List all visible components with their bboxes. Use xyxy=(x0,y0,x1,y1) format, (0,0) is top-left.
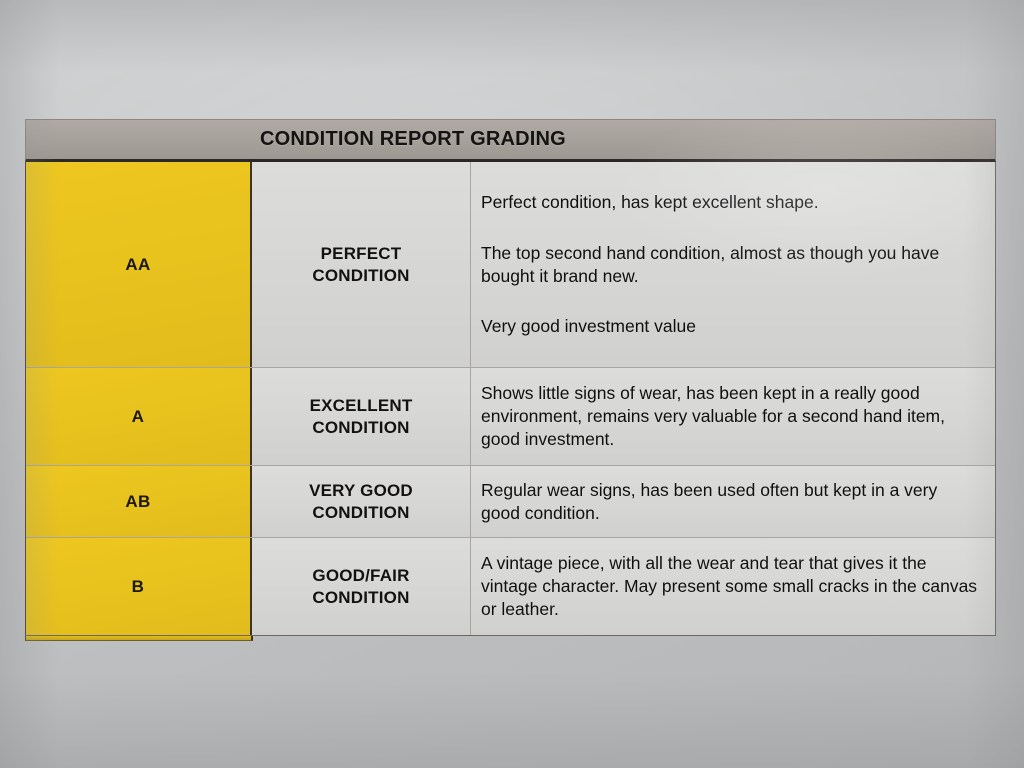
table-row: AB VERY GOOD CONDITION Regular wear sign… xyxy=(26,466,995,538)
description-paragraph: The top second hand condition, almost as… xyxy=(481,242,979,288)
condition-name-cell: EXCELLENT CONDITION xyxy=(252,368,471,465)
grade-column-overhang xyxy=(25,636,253,641)
description-cell: Perfect condition, has kept excellent sh… xyxy=(471,162,995,367)
description-cell: Shows little signs of wear, has been kep… xyxy=(471,368,995,465)
condition-name-line-1: EXCELLENT xyxy=(310,396,413,415)
condition-name-line-1: PERFECT xyxy=(321,244,402,263)
condition-name-line-1: VERY GOOD xyxy=(309,481,413,500)
description-paragraph: A vintage piece, with all the wear and t… xyxy=(481,552,979,620)
description-paragraph: Perfect condition, has kept excellent sh… xyxy=(481,191,979,214)
grade-label: A xyxy=(132,407,145,427)
condition-name-label: EXCELLENT CONDITION xyxy=(310,395,413,437)
grade-cell: AA xyxy=(26,162,252,367)
description-paragraph: Regular wear signs, has been used often … xyxy=(481,479,979,525)
condition-name-line-2: CONDITION xyxy=(312,418,409,437)
description-paragraph: Very good investment value xyxy=(481,315,979,338)
grade-cell: B xyxy=(26,538,252,635)
condition-name-line-2: CONDITION xyxy=(312,588,409,607)
table-row: A EXCELLENT CONDITION Shows little signs… xyxy=(26,368,995,466)
table-row: B GOOD/FAIR CONDITION A vintage piece, w… xyxy=(26,538,995,635)
condition-name-label: VERY GOOD CONDITION xyxy=(309,480,413,522)
table-header-band: CONDITION REPORT GRADING xyxy=(25,119,996,162)
condition-name-cell: PERFECT CONDITION xyxy=(252,162,471,367)
condition-report-grading-table: CONDITION REPORT GRADING AA PERFECT COND… xyxy=(25,119,996,636)
description-paragraph: Shows little signs of wear, has been kep… xyxy=(481,382,979,450)
page-title: CONDITION REPORT GRADING xyxy=(260,128,566,151)
description-cell: Regular wear signs, has been used often … xyxy=(471,466,995,537)
condition-name-cell: GOOD/FAIR CONDITION xyxy=(252,538,471,635)
table-row: AA PERFECT CONDITION Perfect condition, … xyxy=(26,162,995,368)
grade-label: B xyxy=(132,577,145,597)
condition-name-line-2: CONDITION xyxy=(312,503,409,522)
condition-name-line-2: CONDITION xyxy=(312,266,409,285)
grade-cell: A xyxy=(26,368,252,465)
grade-label: AB xyxy=(125,492,150,512)
grade-cell: AB xyxy=(26,466,252,537)
table-body: AA PERFECT CONDITION Perfect condition, … xyxy=(25,162,996,636)
condition-name-label: GOOD/FAIR CONDITION xyxy=(312,565,409,607)
condition-name-label: PERFECT CONDITION xyxy=(312,243,409,285)
condition-name-cell: VERY GOOD CONDITION xyxy=(252,466,471,537)
condition-name-line-1: GOOD/FAIR xyxy=(312,566,409,585)
description-cell: A vintage piece, with all the wear and t… xyxy=(471,538,995,635)
grade-label: AA xyxy=(125,255,150,275)
